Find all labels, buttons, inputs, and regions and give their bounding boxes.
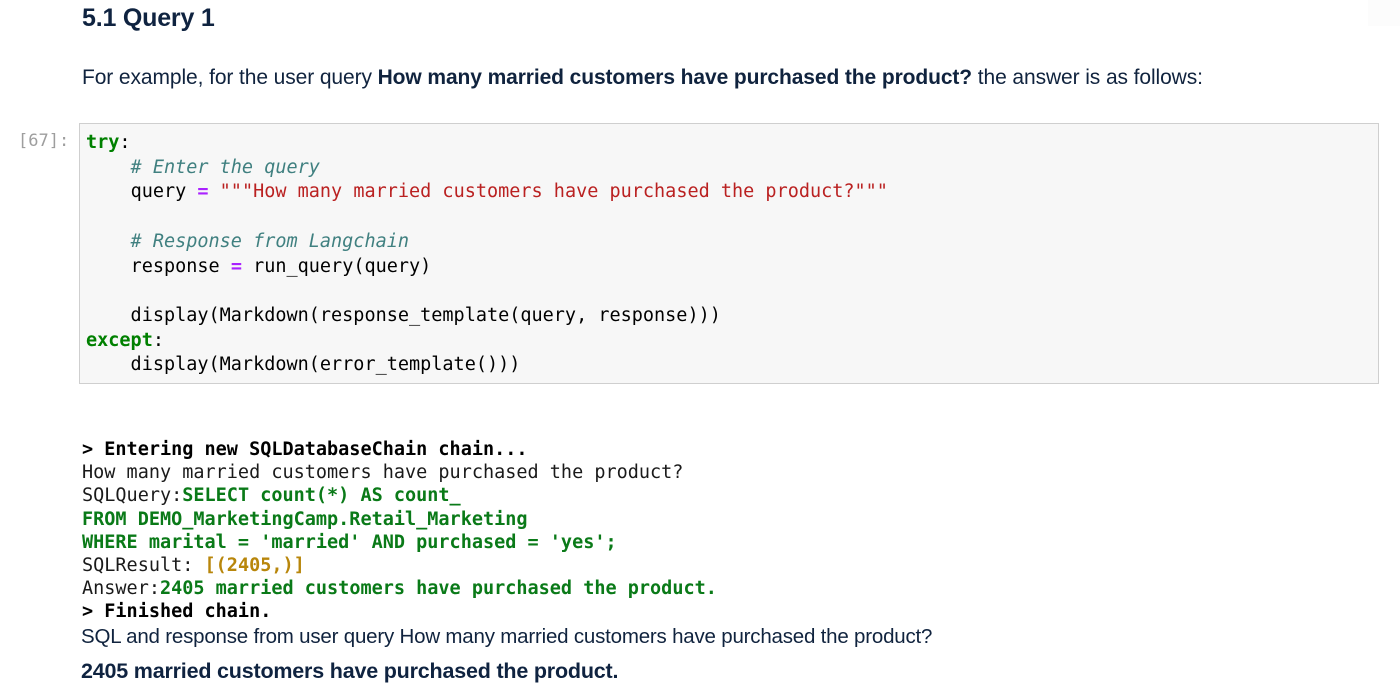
stdout-user-question: How many married customers have purchase… <box>82 462 683 483</box>
assign-operator-1: = <box>197 181 208 202</box>
run-query-call: run_query(query) <box>242 256 431 277</box>
stdout-answer-value: 2405 married customers have purchased th… <box>160 578 717 599</box>
stdout-sql-select: SELECT count(*) AS count_ <box>182 485 460 506</box>
code-cell[interactable]: try: # Enter the query query = """How ma… <box>79 123 1379 384</box>
intro-prefix: For example, for the user query <box>82 66 378 89</box>
cell-stdout-output: > Entering new SQLDatabaseChain chain...… <box>82 438 717 624</box>
code-comment-enter-query: # Enter the query <box>86 157 320 178</box>
intro-bold-query: How many married customers have purchase… <box>378 66 972 89</box>
intro-suffix: the answer is as follows: <box>972 66 1203 89</box>
stdout-sqlresult-label: SQLResult: <box>82 555 205 576</box>
stdout-sql-from: FROM DEMO_MarketingCamp.Retail_Marketing <box>82 509 528 530</box>
stdout-entering-chain: > Entering new SQLDatabaseChain chain... <box>82 439 528 460</box>
scrollbar-edge-artifact <box>1368 0 1400 26</box>
try-colon: : <box>119 132 130 153</box>
indent-1 <box>86 181 131 202</box>
intro-paragraph: For example, for the user query How many… <box>82 66 1203 90</box>
page-title: 5.1 Query 1 <box>82 4 215 33</box>
indent-2 <box>86 256 131 277</box>
keyword-try: try <box>86 132 119 153</box>
except-colon: : <box>153 330 164 351</box>
stdout-answer-label: Answer: <box>82 578 160 599</box>
cell-execution-prompt: [67]: <box>18 131 69 151</box>
var-response: response <box>131 256 231 277</box>
stdout-sqlquery-label: SQLQuery: <box>82 485 182 506</box>
markdown-output-summary: SQL and response from user query How man… <box>81 625 932 649</box>
assign-operator-2: = <box>231 256 242 277</box>
display-response-call: display(Markdown(response_template(query… <box>86 305 721 326</box>
stdout-sql-where: WHERE marital = 'married' AND purchased … <box>82 532 617 553</box>
notebook-page: 5.1 Query 1 For example, for the user qu… <box>0 0 1400 697</box>
keyword-except: except <box>86 330 153 351</box>
markdown-output-answer: 2405 married customers have purchased th… <box>81 659 618 684</box>
code-editor-content[interactable]: try: # Enter the query query = """How ma… <box>86 131 888 378</box>
stdout-sqlresult-value: [(2405,)] <box>205 555 305 576</box>
code-comment-langchain: # Response from Langchain <box>86 231 409 252</box>
var-query: query <box>131 181 198 202</box>
stdout-finished-chain: > Finished chain. <box>82 601 271 622</box>
query-string-literal: """How many married customers have purch… <box>209 181 888 202</box>
display-error-call: display(Markdown(error_template())) <box>86 354 520 375</box>
